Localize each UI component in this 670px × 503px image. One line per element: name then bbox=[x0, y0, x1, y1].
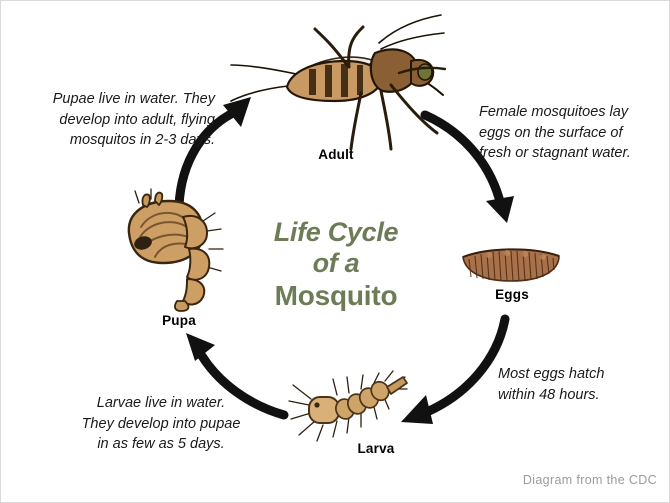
title-line-1: Life Cycle bbox=[236, 217, 436, 248]
stage-label-eggs: Eggs bbox=[474, 287, 550, 302]
stage-label-adult: Adult bbox=[298, 147, 374, 162]
adult-mosquito-illustration bbox=[229, 9, 447, 154]
caption-eggs-to-larva: Most eggs hatch within 48 hours. bbox=[498, 364, 664, 405]
eggs-illustration bbox=[459, 243, 565, 287]
pupa-illustration bbox=[117, 187, 233, 313]
stage-label-pupa: Pupa bbox=[141, 313, 217, 328]
diagram-title: Life Cycle of a Mosquito bbox=[236, 217, 436, 312]
title-line-3: Mosquito bbox=[236, 279, 436, 312]
caption-adult-to-eggs: Female mosquitoes lay eggs on the surfac… bbox=[479, 102, 665, 164]
title-line-2: of a bbox=[236, 248, 436, 279]
mosquito-life-cycle-diagram: .arrowline { fill:none; stroke:#111111; … bbox=[0, 0, 670, 503]
caption-larva-to-pupa: Larvae live in water. They develop into … bbox=[55, 393, 267, 455]
arrow-eggs-to-larva bbox=[401, 319, 505, 424]
source-credit: Diagram from the CDC bbox=[441, 473, 657, 487]
stage-label-larva: Larva bbox=[338, 441, 414, 456]
caption-pupa-to-adult: Pupae live in water. They develop into a… bbox=[19, 89, 215, 151]
larva-illustration bbox=[287, 369, 409, 447]
